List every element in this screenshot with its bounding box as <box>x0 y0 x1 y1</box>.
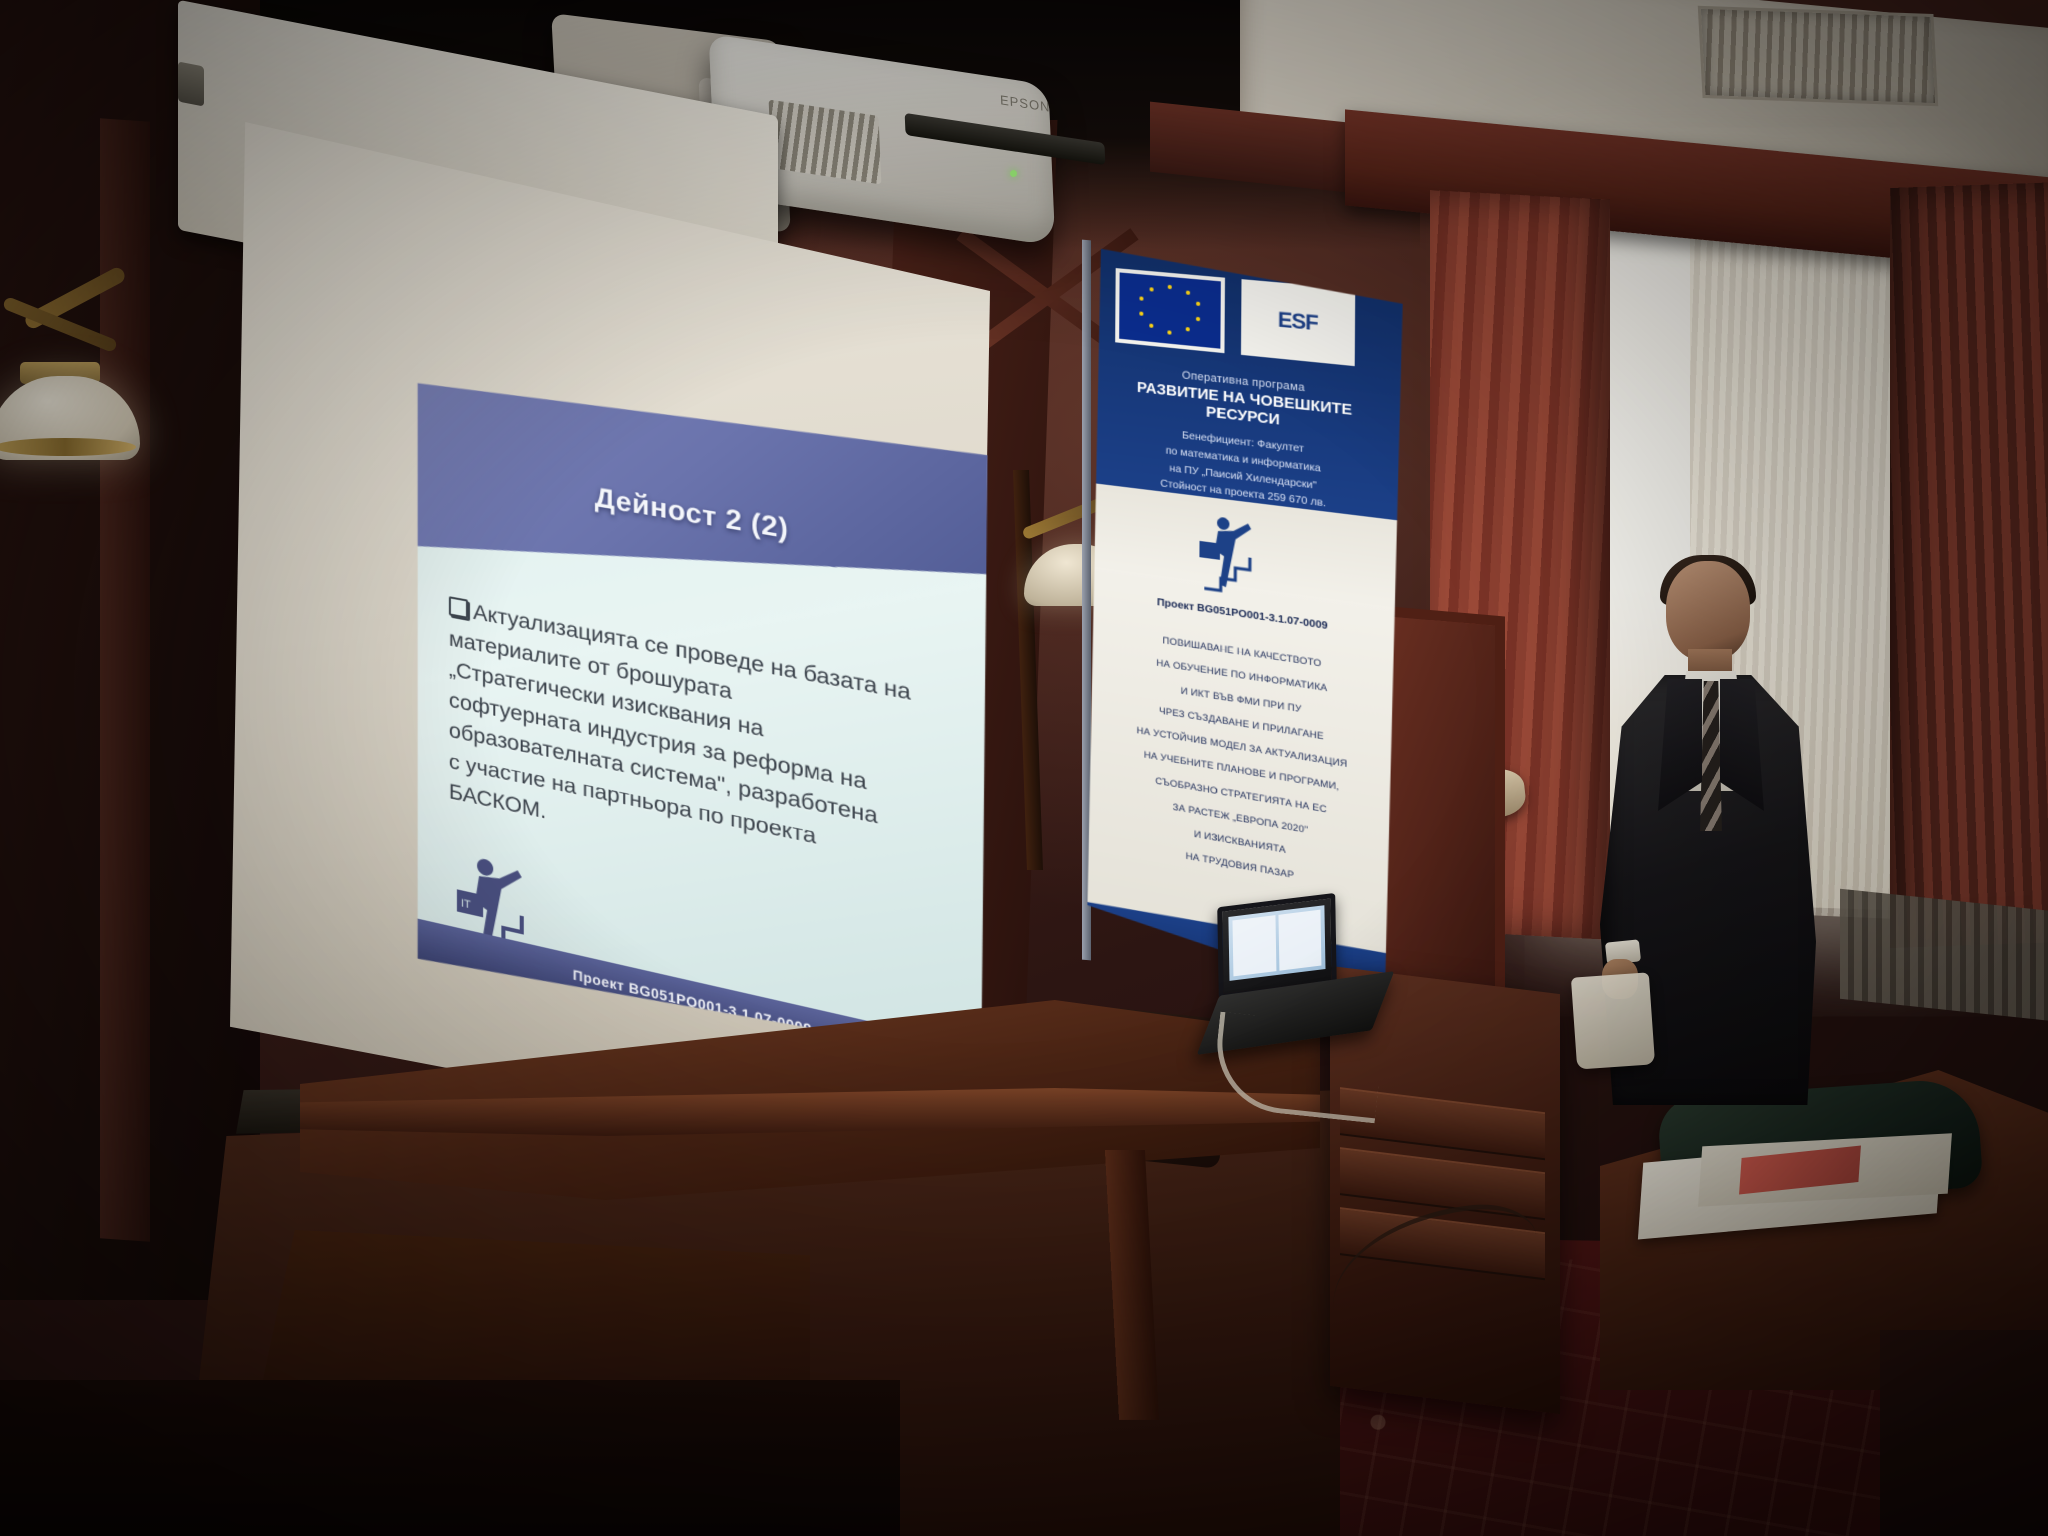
curtain-right <box>1890 182 2048 948</box>
foreground-dark-object <box>1880 1330 2048 1536</box>
esf-logo-icon: ESF <box>1241 279 1355 366</box>
carried-bag <box>1571 972 1655 1069</box>
wall-sconce-left <box>0 290 180 460</box>
banner-stairs-logo-icon <box>1198 508 1271 601</box>
slide-bullet-icon <box>449 596 468 619</box>
rollup-banner: ESF Оперативна програма РАЗВИТИЕ НА ЧОВЕ… <box>1087 248 1403 1008</box>
ceiling-vent-icon <box>1698 6 1938 107</box>
screen-roller-cap <box>178 61 204 106</box>
presenter <box>1580 555 1840 1115</box>
projector-power-led-icon <box>1010 170 1017 177</box>
foreground-floor <box>0 1380 900 1536</box>
banner-body-lines: ПОВИШАВАНЕ НА КАЧЕСТВОТО НА ОБУЧЕНИЕ ПО … <box>1094 619 1394 905</box>
laptop-display <box>1228 905 1325 981</box>
svg-text:IT: IT <box>461 897 471 911</box>
sconce-brass-ring <box>0 438 136 456</box>
radiator <box>1840 889 2048 1022</box>
conference-room-photo: EPSON Дейност 2 (2) Актуализацията се пр… <box>0 0 2048 1536</box>
presenter-head <box>1666 561 1750 661</box>
eu-flag-icon <box>1115 268 1225 353</box>
